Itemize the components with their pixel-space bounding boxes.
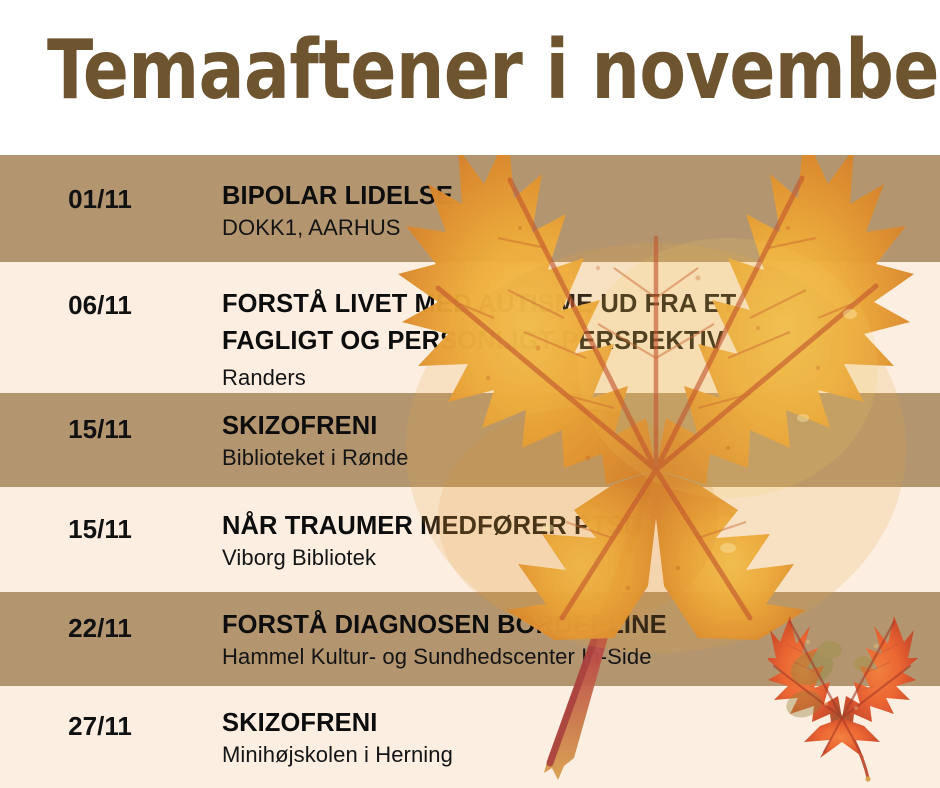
schedule-row-3: 15/11 SKIZOFRENI Biblioteket i Rønde: [0, 393, 940, 487]
row-venue: Minihøjskolen i Herning: [222, 741, 922, 769]
row-body: BIPOLAR LIDELSE DOKK1, AARHUS: [222, 181, 922, 242]
row-venue: Viborg Bibliotek: [222, 544, 922, 572]
row-venue: Randers: [222, 364, 922, 392]
schedule-row-4: 15/11 NÅR TRAUMER MEDFØRER PTSD Viborg B…: [0, 487, 940, 592]
row-body: NÅR TRAUMER MEDFØRER PTSD Viborg Bibliot…: [222, 511, 922, 572]
row-body: FORSTÅ DIAGNOSEN BORDERLINE Hammel Kultu…: [222, 610, 922, 671]
row-date: 15/11: [0, 414, 200, 445]
row-title: FORSTÅ LIVET MED AUTISME UD FRA ET FAGLI…: [222, 286, 922, 360]
row-venue: Hammel Kultur- og Sundhedscenter In-Side: [222, 643, 922, 671]
row-date: 27/11: [0, 711, 200, 742]
row-title: NÅR TRAUMER MEDFØRER PTSD: [222, 511, 922, 542]
row-title: SKIZOFRENI: [222, 708, 922, 739]
row-body: SKIZOFRENI Minihøjskolen i Herning: [222, 708, 922, 769]
schedule-row-1: 01/11 BIPOLAR LIDELSE DOKK1, AARHUS: [0, 155, 940, 262]
row-body: SKIZOFRENI Biblioteket i Rønde: [222, 411, 922, 472]
row-title: SKIZOFRENI: [222, 411, 922, 442]
schedule-row-2: 06/11 FORSTÅ LIVET MED AUTISME UD FRA ET…: [0, 262, 940, 393]
page-title: Temaaftener i november: [47, 23, 940, 119]
row-date: 06/11: [0, 290, 200, 321]
row-date: 01/11: [0, 184, 200, 215]
poster-root: 01/11 BIPOLAR LIDELSE DOKK1, AARHUS 06/1…: [0, 0, 940, 788]
row-title: FORSTÅ DIAGNOSEN BORDERLINE: [222, 610, 922, 641]
schedule-row-6: 27/11 SKIZOFRENI Minihøjskolen i Herning: [0, 686, 940, 788]
row-title: BIPOLAR LIDELSE: [222, 181, 922, 212]
poster-header: Temaaftener i november: [0, 0, 940, 155]
row-date: 22/11: [0, 613, 200, 644]
schedule-row-5: 22/11 FORSTÅ DIAGNOSEN BORDERLINE Hammel…: [0, 592, 940, 686]
schedule-list: 01/11 BIPOLAR LIDELSE DOKK1, AARHUS 06/1…: [0, 155, 940, 788]
row-venue: Biblioteket i Rønde: [222, 444, 922, 472]
row-date: 15/11: [0, 514, 200, 545]
row-venue: DOKK1, AARHUS: [222, 214, 922, 242]
row-body: FORSTÅ LIVET MED AUTISME UD FRA ET FAGLI…: [222, 286, 922, 392]
